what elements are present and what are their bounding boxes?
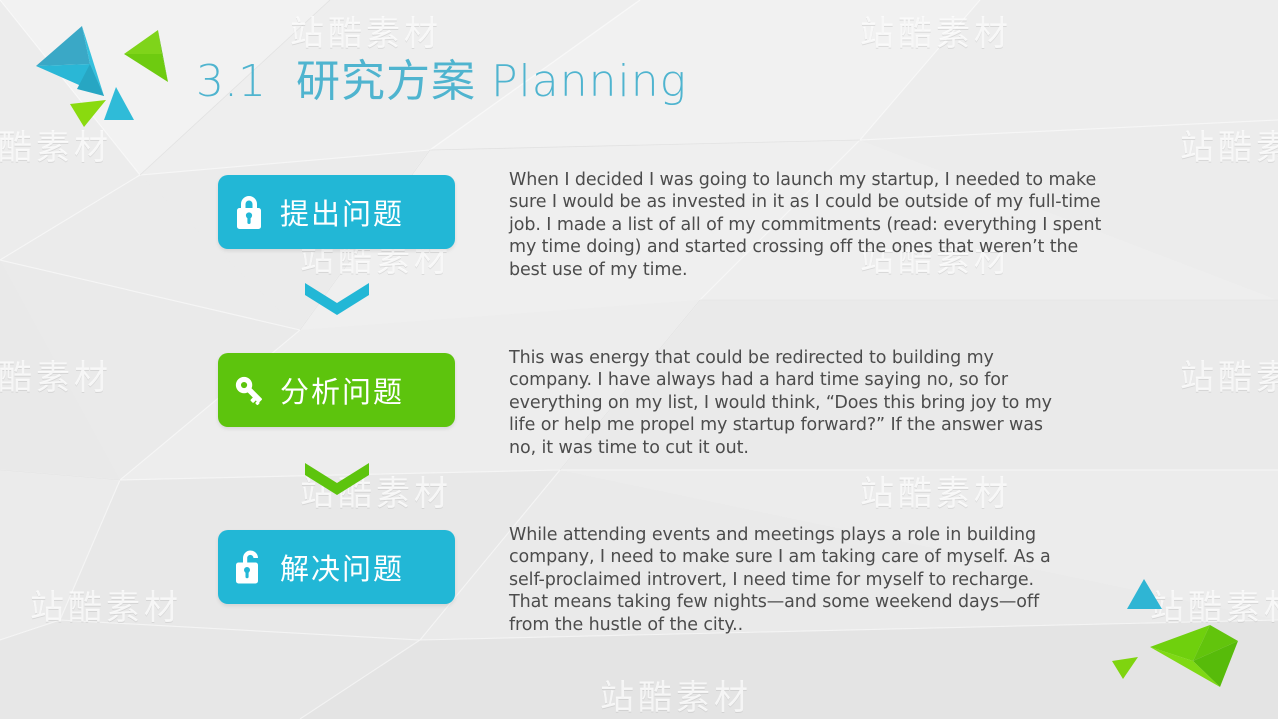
step-paragraph-1: When I decided I was going to launch my … — [509, 169, 1109, 281]
step-label-3: 解决问题 — [280, 546, 404, 588]
lock-closed-icon — [218, 192, 280, 232]
step-paragraph-2: This was energy that could be redirected… — [509, 347, 1054, 459]
logo-icon — [22, 14, 192, 134]
page-title: 3.1 研究方案 Planning — [196, 52, 687, 112]
lock-open-icon — [218, 546, 280, 588]
key-icon — [218, 370, 280, 410]
title-english: Planning — [491, 56, 687, 107]
title-chinese: 研究方案 — [296, 56, 476, 107]
step-label-2: 分析问题 — [280, 369, 404, 411]
step-paragraph-3: While attending events and meetings play… — [509, 524, 1069, 636]
step-button-2[interactable]: 分析问题 — [218, 353, 455, 427]
title-number: 3.1 — [196, 56, 266, 107]
decoration-shapes-bottom-right — [1078, 569, 1278, 719]
step-button-3[interactable]: 解决问题 — [218, 530, 455, 604]
step-button-1[interactable]: 提出问题 — [218, 175, 455, 249]
chevron-down-icon-green — [305, 461, 369, 495]
slide-canvas: 站酷素材 站酷素材 站酷素材 站酷素材 站酷素材 站酷素材 站酷素材 站酷素材 … — [0, 0, 1278, 719]
step-label-1: 提出问题 — [280, 191, 404, 233]
chevron-down-icon-cyan — [305, 281, 369, 315]
